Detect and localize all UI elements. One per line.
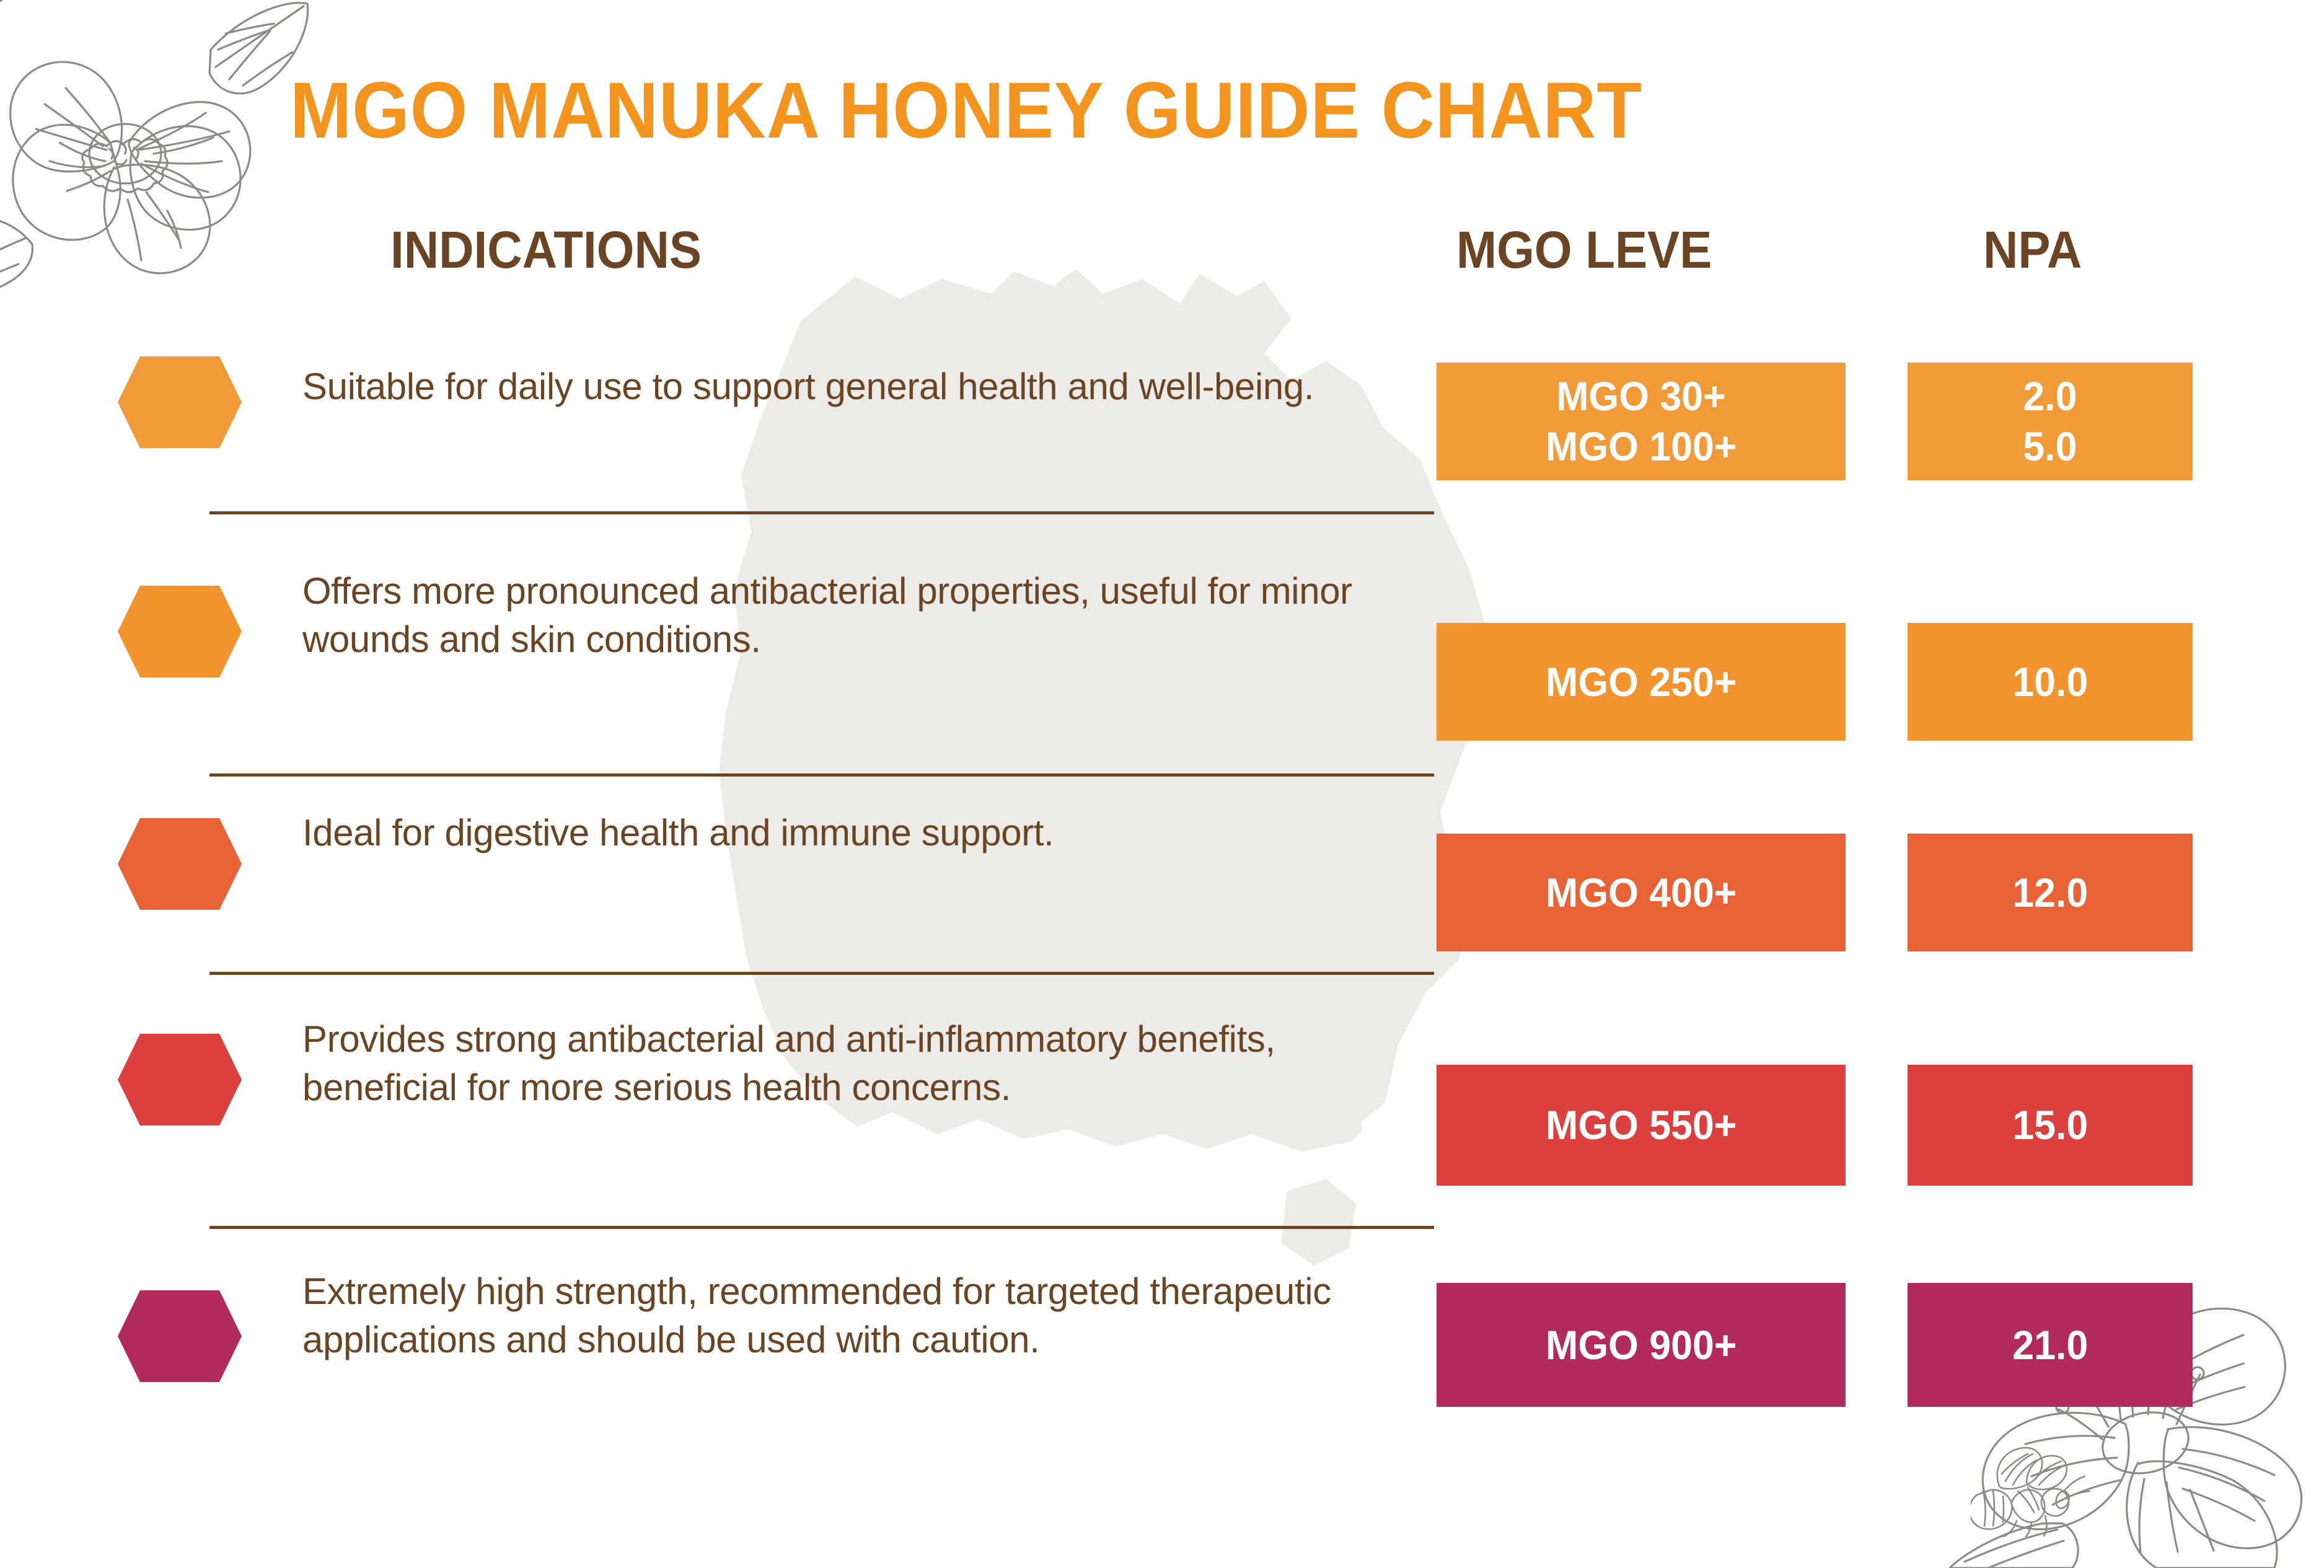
infographic-content: MGO MANUKA HONEY GUIDE CHART INDICATIONS… [0, 0, 2324, 1549]
indication-text: Extremely high strength, recommended for… [302, 1267, 1368, 1364]
npa-badge: 10.0 [1908, 623, 2193, 741]
row-marker-hexagon [118, 818, 242, 910]
row-marker-hexagon [118, 356, 242, 448]
column-header-indications: INDICATIONS [390, 220, 702, 280]
mgo-level-badge: MGO 900+ [1437, 1283, 1846, 1407]
mgo-level-value: MGO 30+ [1556, 371, 1726, 421]
npa-badge: 12.0 [1908, 834, 2193, 951]
npa-value: 15.0 [2012, 1100, 2088, 1150]
indication-text: Provides strong antibacterial and anti-i… [302, 1015, 1368, 1112]
mgo-level-badge: MGO 250+ [1437, 623, 1846, 741]
mgo-level-value: MGO 100+ [1546, 421, 1736, 472]
indication-text: Suitable for daily use to support genera… [302, 363, 1368, 411]
mgo-level-value: MGO 900+ [1546, 1320, 1736, 1370]
mgo-level-badge: MGO 550+ [1437, 1065, 1846, 1186]
row-divider [209, 511, 1434, 514]
npa-badge: 21.0 [1908, 1283, 2193, 1407]
indication-text: Ideal for digestive health and immune su… [302, 809, 1368, 857]
column-header-npa: NPA [1983, 220, 2082, 280]
npa-badge: 2.0 5.0 [1908, 363, 2193, 480]
row-marker-hexagon [118, 586, 242, 677]
column-header-mgo-level: MGO LEVE [1456, 220, 1712, 280]
indication-text: Offers more pronounced antibacterial pro… [302, 567, 1368, 664]
mgo-level-value: MGO 250+ [1546, 657, 1736, 707]
row-divider [209, 972, 1434, 975]
npa-value: 5.0 [2023, 421, 2077, 472]
page-title: MGO MANUKA HONEY GUIDE CHART [290, 65, 1642, 156]
mgo-level-value: MGO 400+ [1546, 868, 1736, 918]
npa-value: 12.0 [2012, 868, 2088, 918]
mgo-level-badge: MGO 30+ MGO 100+ [1437, 363, 1846, 480]
npa-value: 10.0 [2012, 657, 2088, 707]
npa-badge: 15.0 [1908, 1065, 2193, 1186]
row-marker-hexagon [118, 1290, 242, 1382]
npa-value: 21.0 [2012, 1320, 2088, 1370]
mgo-level-value: MGO 550+ [1546, 1100, 1736, 1150]
row-marker-hexagon [118, 1034, 242, 1125]
npa-value: 2.0 [2023, 371, 2077, 421]
mgo-level-badge: MGO 400+ [1437, 834, 1846, 951]
row-divider [209, 773, 1434, 777]
row-divider [209, 1226, 1434, 1229]
